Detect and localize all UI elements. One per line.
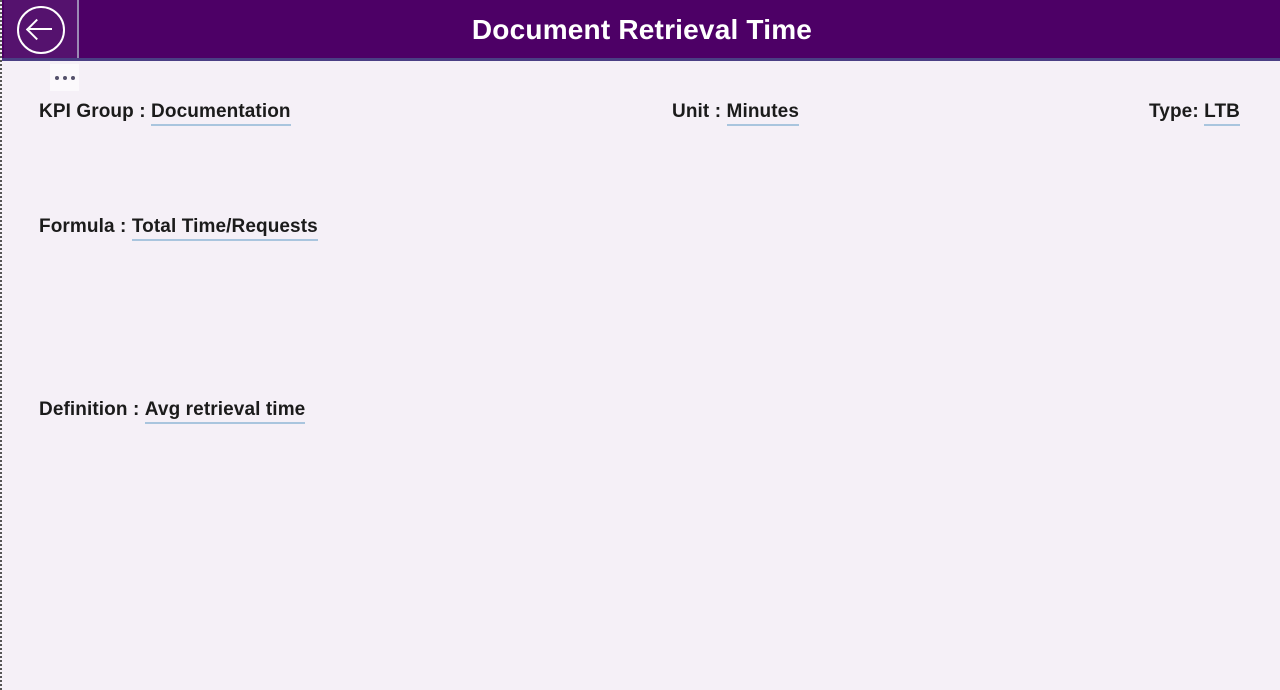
field-unit: Unit : Minutes <box>672 101 799 126</box>
ellipsis-icon-dot <box>55 76 59 80</box>
field-kpi-group-label: KPI Group : <box>39 101 146 122</box>
overflow-menu-button[interactable] <box>50 64 79 91</box>
field-kpi-group: KPI Group : Documentation <box>39 101 291 126</box>
back-arrow-icon <box>17 6 65 54</box>
back-button[interactable] <box>4 0 77 59</box>
field-formula-label: Formula : <box>39 216 126 237</box>
header-accent-bar <box>2 58 1280 61</box>
ellipsis-icon-dot <box>63 76 67 80</box>
field-definition-label: Definition : <box>39 399 139 420</box>
field-type-value[interactable]: LTB <box>1204 102 1240 126</box>
header-divider <box>77 0 79 59</box>
field-kpi-group-value[interactable]: Documentation <box>151 102 291 126</box>
field-unit-label: Unit : <box>672 101 721 122</box>
field-formula-value[interactable]: Total Time/Requests <box>132 217 318 241</box>
field-unit-value[interactable]: Minutes <box>727 102 799 126</box>
kpi-detail-screen: Document Retrieval Time KPI Group : Docu… <box>0 0 1280 690</box>
app-header: Document Retrieval Time <box>2 0 1280 61</box>
field-type-label: Type: <box>1149 101 1199 122</box>
field-type: Type: LTB <box>1149 101 1240 126</box>
field-definition-value[interactable]: Avg retrieval time <box>145 400 306 424</box>
page-title: Document Retrieval Time <box>2 0 1280 59</box>
field-definition: Definition : Avg retrieval time <box>39 399 305 424</box>
ellipsis-icon-dot <box>71 76 75 80</box>
field-formula: Formula : Total Time/Requests <box>39 216 318 241</box>
